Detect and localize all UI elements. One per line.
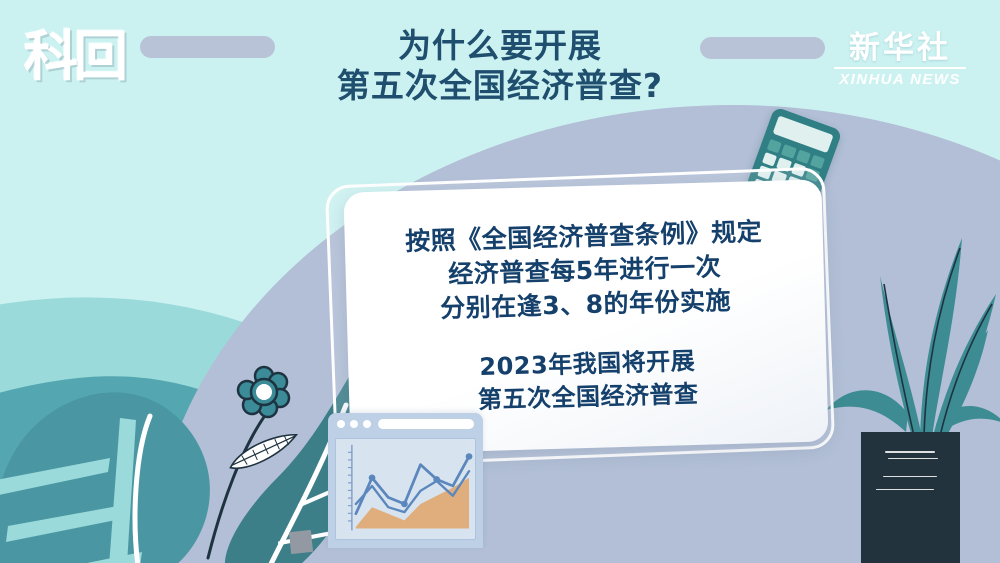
- chart-plot: [336, 439, 475, 539]
- card-block-regulation: 按照《全国经济普查条例》规定 经济普查每5年进行一次 分别在逢3、8的年份实施: [405, 215, 765, 327]
- brand-logo: 科回: [24, 24, 128, 96]
- xinhua-logo-rule: [834, 67, 966, 69]
- header-pill-left: [140, 36, 275, 58]
- page-title-line2: 第五次全国经济普查?: [270, 66, 730, 106]
- xinhua-logo-en: XINHUA NEWS: [830, 71, 970, 88]
- browser-dot-maximize: [363, 420, 371, 428]
- browser-title-bar: [328, 413, 483, 434]
- browser-dot-close: [337, 420, 345, 428]
- page-title: 为什么要开展 第五次全国经济普查?: [270, 26, 730, 106]
- browser-dot-minimize: [350, 420, 358, 428]
- potted-plant: [810, 232, 1000, 442]
- card-block-announcement: 2023年我国将开展 第五次全国经济普查: [477, 345, 699, 417]
- card-spacer: [586, 322, 587, 348]
- xinhua-logo-cn: 新华社: [830, 30, 970, 66]
- browser-window-chart: [328, 413, 483, 548]
- poster-stage: 科回 为什么要开展 第五次全国经济普查? 新华社 XINHUA NEWS 按照《…: [0, 0, 1000, 563]
- chart-panel: [335, 438, 476, 540]
- plant-pot: [861, 432, 960, 563]
- flower-icon: [190, 362, 310, 562]
- browser-address-bar: [378, 419, 474, 429]
- card-line-5: 第五次全国经济普查: [478, 378, 699, 417]
- page-title-line1: 为什么要开展: [270, 26, 730, 66]
- xinhua-logo: 新华社 XINHUA NEWS: [830, 30, 970, 88]
